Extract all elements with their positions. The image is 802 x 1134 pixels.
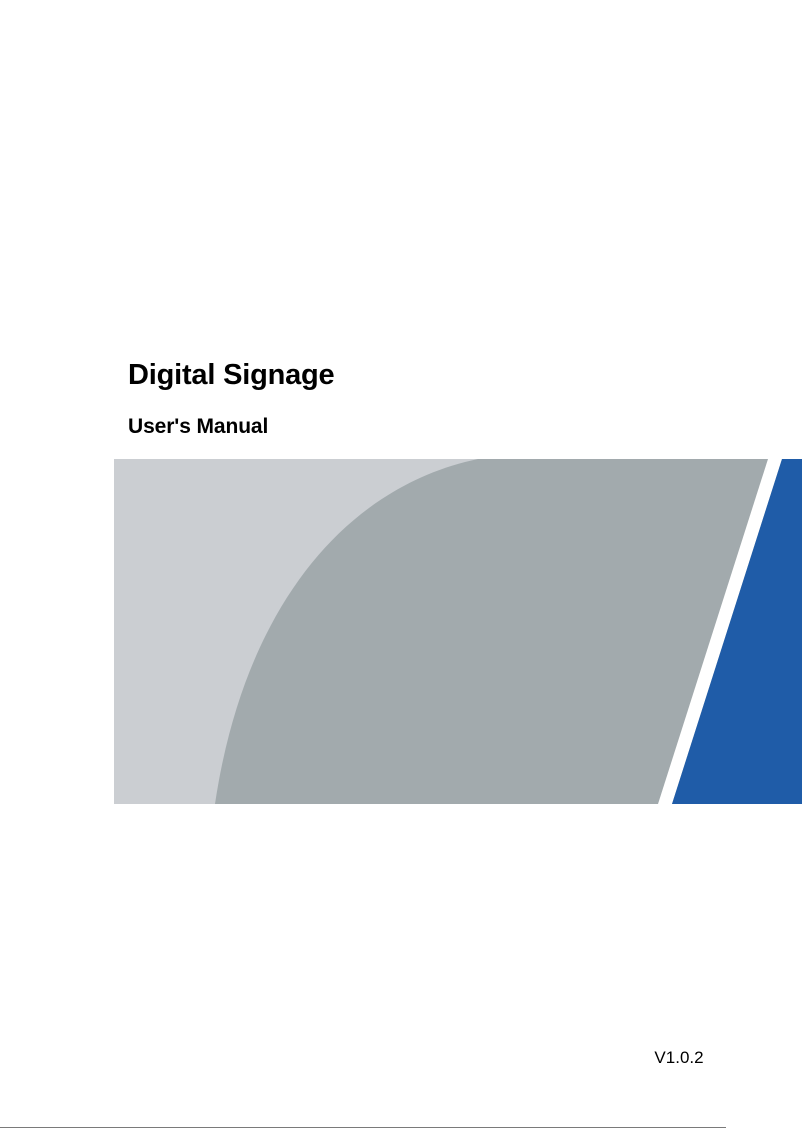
page-title: Digital Signage xyxy=(128,358,728,392)
cover-page: Digital Signage User's Manual V1.0.2 xyxy=(0,0,802,1134)
cover-title-block: Digital Signage User's Manual xyxy=(128,358,728,439)
version-block: V1.0.2 xyxy=(616,1047,742,1069)
page-bottom-rule xyxy=(0,1127,726,1128)
cover-banner-graphic xyxy=(114,459,802,804)
page-subtitle: User's Manual xyxy=(128,392,728,439)
version-label: V1.0.2 xyxy=(654,1048,703,1067)
banner-artwork xyxy=(114,459,802,804)
